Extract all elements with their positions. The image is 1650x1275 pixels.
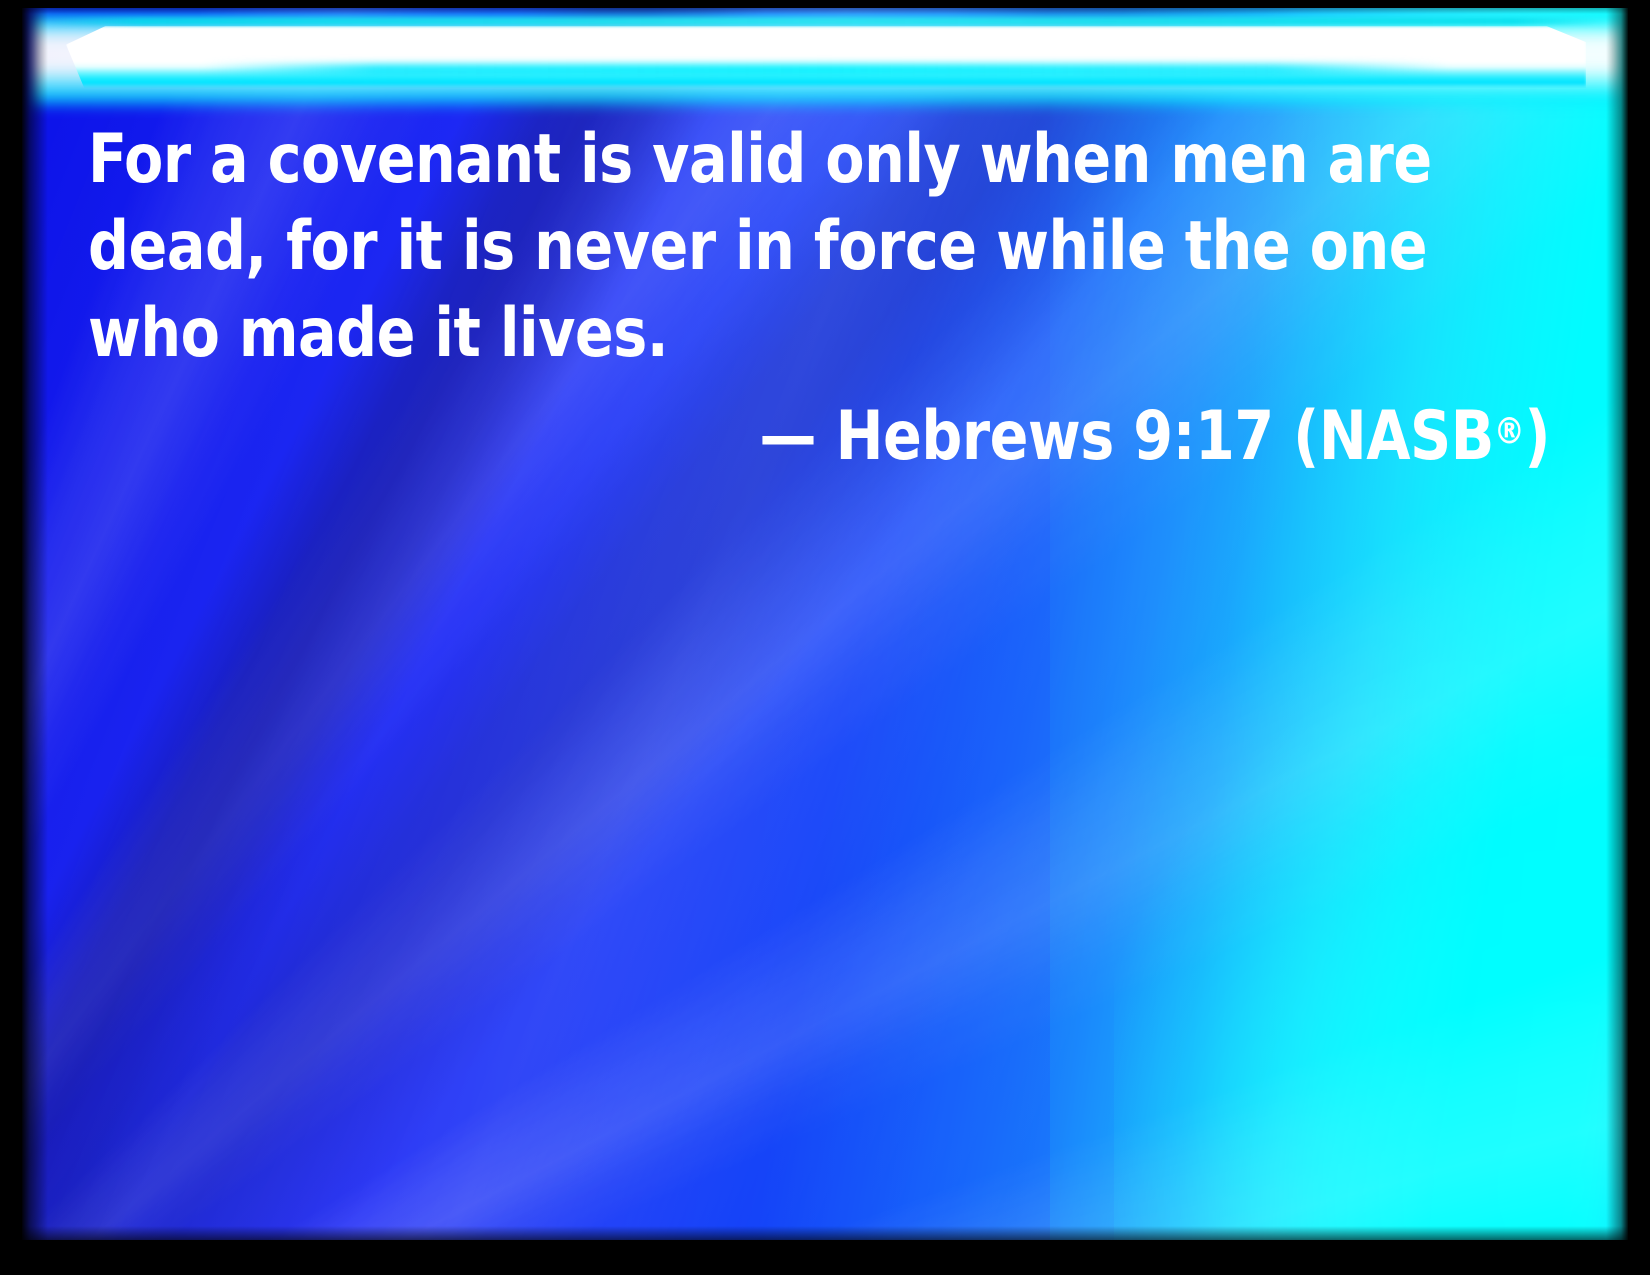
verse-slide: For a covenant is valid only when men ar…: [0, 0, 1650, 1275]
panel-edge-vignette: [22, 8, 1628, 1240]
artwork-panel: For a covenant is valid only when men ar…: [22, 8, 1628, 1240]
